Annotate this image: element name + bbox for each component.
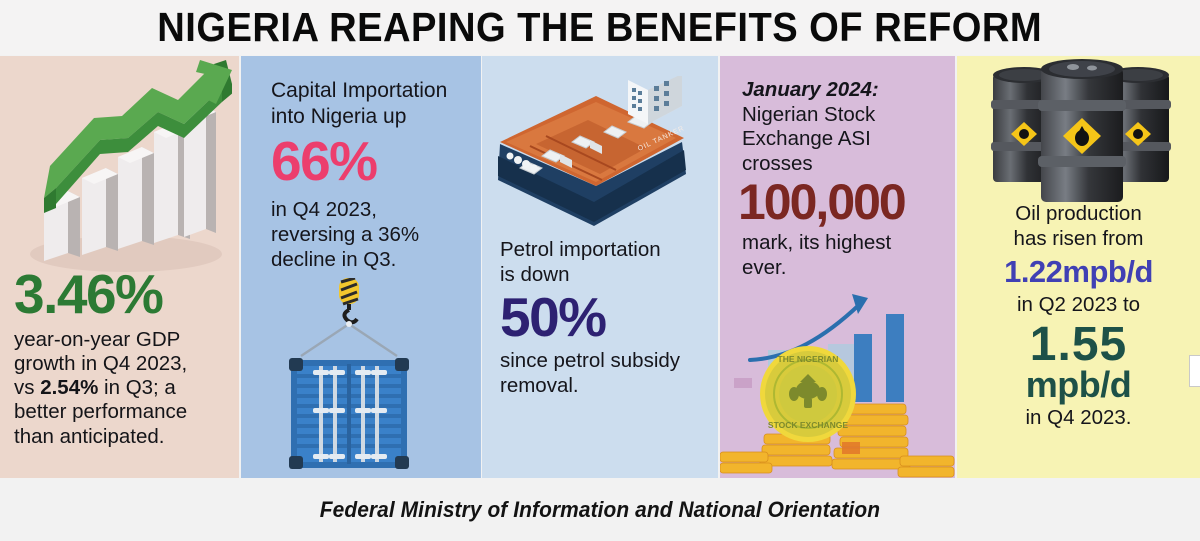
panel-gdp-text: 3.46% year-on-year GDP growth in Q4 2023… <box>0 268 239 449</box>
oil-barrels-icon <box>979 56 1184 202</box>
petrol-desc-line-2: removal. <box>500 374 700 399</box>
panel-petrol-text: Petrol importation is down 50% since pet… <box>482 238 718 398</box>
gdp-stat-value: 3.46% <box>14 268 225 322</box>
panel-petrol-importation: OIL TANKER Petrol importation is down 50… <box>482 56 718 478</box>
gdp-desc-line-3-pre: vs <box>14 376 40 399</box>
oil-lead-line-1: Oil production <box>969 202 1188 227</box>
infographic-root: NIGERIA REAPING THE BENEFITS OF REFORM <box>0 0 1200 541</box>
coin-bottom-label: STOCK EXCHANGE <box>768 420 848 430</box>
stock-desc-line-1: mark, its highest <box>742 231 933 256</box>
nigerian-stock-exchange-coin-icon: THE NIGERIAN STOCK EXCHANGE <box>720 286 955 478</box>
page-title: NIGERIA REAPING THE BENEFITS OF REFORM <box>158 4 1043 51</box>
gdp-desc-line-2: growth in Q4 2023, <box>14 352 225 376</box>
stock-stat-value: 100,000 <box>738 178 933 227</box>
capital-description: in Q4 2023, reversing a 36% decline in Q… <box>271 197 451 272</box>
petrol-desc-line-1: since petrol subsidy <box>500 349 700 374</box>
oil-stat-to-value: 1.55 <box>969 321 1188 369</box>
stock-lead: January 2024: Nigerian Stock Exchange AS… <box>742 78 933 176</box>
oil-tanker-ship-icon: OIL TANKER <box>482 76 716 236</box>
petrol-lead-line-2: is down <box>500 263 700 288</box>
capital-desc-line-1: in Q4 2023, <box>271 197 451 222</box>
oil-lead: Oil production has risen from <box>969 202 1188 251</box>
petrol-description: since petrol subsidy removal. <box>500 349 700 398</box>
shipping-container-crane-icon <box>263 278 463 478</box>
stock-desc-line-2: ever. <box>742 256 933 281</box>
capital-lead-line-1: Capital Importation <box>271 78 451 104</box>
stock-description: mark, its highest ever. <box>742 231 933 280</box>
petrol-lead: Petrol importation is down <box>500 238 700 287</box>
capital-lead-line-2: into Nigeria up <box>271 104 451 130</box>
stock-date-label: January 2024: <box>742 78 933 103</box>
panel-stock-exchange: January 2024: Nigerian Stock Exchange AS… <box>720 56 955 478</box>
gdp-desc-line-3: vs 2.54% in Q3; a <box>14 376 225 400</box>
panel-capital-text: Capital Importation into Nigeria up 66% … <box>241 78 481 272</box>
gdp-prev-quarter-value: 2.54% <box>40 376 98 399</box>
petrol-stat-value: 50% <box>500 291 700 345</box>
gdp-desc-line-4: better performance <box>14 400 225 424</box>
oil-stat-from-value: 1.22mpb/d <box>969 257 1188 287</box>
capital-lead: Capital Importation into Nigeria up <box>271 78 451 129</box>
gdp-desc-line-5: than anticipated. <box>14 425 225 449</box>
bar-chart-up-arrow-icon <box>8 58 232 286</box>
gdp-desc-line-1: year-on-year GDP <box>14 328 225 352</box>
stock-lead-line-3: crosses <box>742 152 933 177</box>
coin-top-label: THE NIGERIAN <box>778 354 839 364</box>
oil-tail-text: in Q4 2023. <box>969 406 1188 429</box>
capital-desc-line-2: reversing a 36% <box>271 222 451 247</box>
header-bar: NIGERIA REAPING THE BENEFITS OF REFORM <box>0 0 1200 55</box>
edge-scroll-tab[interactable] <box>1189 355 1200 387</box>
stock-lead-line-1: Nigerian Stock <box>742 103 933 128</box>
panel-gdp-growth: 3.46% year-on-year GDP growth in Q4 2023… <box>0 56 239 478</box>
capital-stat-value: 66% <box>271 135 451 189</box>
panel-strip: 3.46% year-on-year GDP growth in Q4 2023… <box>0 56 1200 478</box>
oil-stat-to-unit: mpb/d <box>969 367 1188 402</box>
stock-lead-line-2: Exchange ASI <box>742 127 933 152</box>
gdp-description: year-on-year GDP growth in Q4 2023, vs 2… <box>14 328 225 449</box>
gdp-desc-line-3-post: in Q3; a <box>98 376 176 399</box>
petrol-lead-line-1: Petrol importation <box>500 238 700 263</box>
oil-lead-line-2: has risen from <box>969 227 1188 252</box>
footer-attribution: Federal Ministry of Information and Nati… <box>320 497 880 523</box>
panel-stock-text: January 2024: Nigerian Stock Exchange AS… <box>720 78 955 281</box>
panel-capital-importation: Capital Importation into Nigeria up 66% … <box>241 56 481 478</box>
panel-oil-production: Oil production has risen from 1.22mpb/d … <box>957 56 1200 478</box>
panel-oil-text: Oil production has risen from 1.22mpb/d … <box>957 202 1200 430</box>
oil-mid-text: in Q2 2023 to <box>969 293 1188 318</box>
footer-bar: Federal Ministry of Information and Nati… <box>0 478 1200 541</box>
capital-desc-line-3: decline in Q3. <box>271 247 451 272</box>
